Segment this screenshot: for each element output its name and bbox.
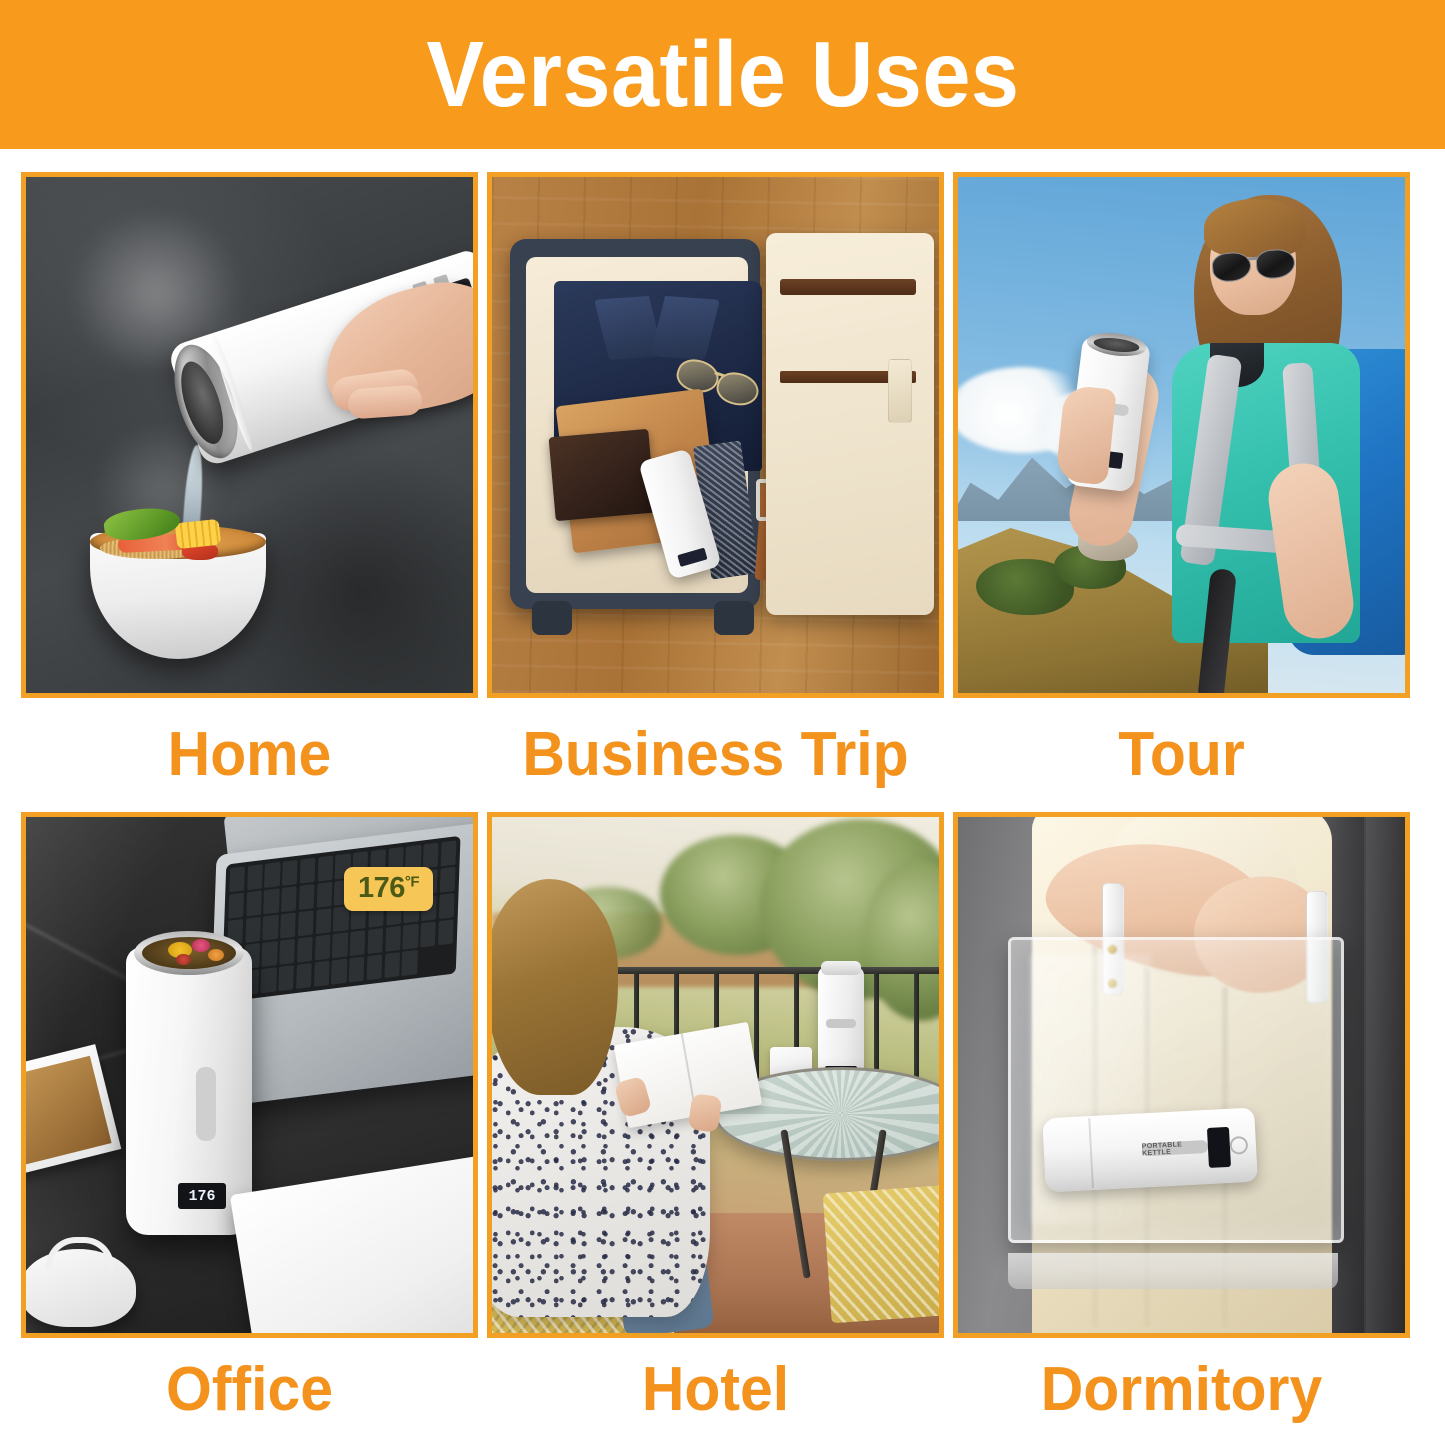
suitcase-main-compartment xyxy=(510,239,760,609)
zipper-pocket xyxy=(780,279,916,295)
kettle-display xyxy=(677,548,707,567)
suitcase xyxy=(504,229,937,629)
kettle-logo: PORTABLE KETTLE xyxy=(1142,1140,1209,1156)
key xyxy=(439,893,455,919)
key xyxy=(440,867,456,893)
finger xyxy=(347,384,423,419)
caption-tour: Tour xyxy=(964,698,1398,812)
key xyxy=(350,930,366,956)
laptop-keyboard xyxy=(221,836,460,1002)
use-case-grid: PORTABLE KETTLE 212 Home xyxy=(21,172,1425,1442)
key xyxy=(314,961,330,987)
kettle-display xyxy=(1207,1127,1231,1168)
portable-kettle-in-bag: PORTABLE KETTLE xyxy=(1042,1108,1258,1193)
scene-dormitory-tote: PORTABLE KETTLE xyxy=(958,817,1405,1333)
key xyxy=(296,963,312,989)
sunglass-lens-left xyxy=(1211,251,1252,283)
open-magazine xyxy=(230,1153,478,1338)
caption-hotel: Hotel xyxy=(498,1338,932,1442)
tote-base-panel xyxy=(1008,1253,1338,1289)
sunglass-lens-right xyxy=(1255,248,1296,280)
key xyxy=(261,968,277,994)
key xyxy=(300,858,316,884)
key xyxy=(297,937,313,963)
key xyxy=(280,913,296,939)
temperature-value: 176 xyxy=(358,872,405,904)
key xyxy=(384,952,400,978)
photo-print xyxy=(21,1044,121,1178)
rose-bud xyxy=(192,939,210,952)
kettle-display: 176 xyxy=(178,1183,226,1209)
key xyxy=(279,939,295,965)
pocket-tab xyxy=(888,359,912,423)
key xyxy=(229,866,245,892)
key xyxy=(228,893,244,919)
caption-business-trip: Business Trip xyxy=(498,698,932,812)
kettle-lid xyxy=(821,961,861,975)
key xyxy=(263,915,279,941)
woman-hair xyxy=(487,879,618,1095)
photo-image xyxy=(21,1056,112,1168)
tile-image-home[interactable]: PORTABLE KETTLE 212 xyxy=(21,172,478,698)
key xyxy=(282,860,298,886)
key xyxy=(278,965,294,991)
use-case-cell-office: 176°F 176 xyxy=(21,812,478,1442)
key xyxy=(299,884,315,910)
key xyxy=(264,862,280,888)
key xyxy=(402,950,418,976)
key xyxy=(333,906,349,932)
key xyxy=(317,855,333,881)
shirt-collar-right xyxy=(650,296,720,360)
corn-cob xyxy=(175,519,221,549)
key xyxy=(438,920,454,946)
caption-dormitory: Dormitory xyxy=(964,1338,1398,1442)
temperature-badge: 176°F xyxy=(344,867,433,911)
sunglasses xyxy=(1211,248,1297,282)
bistro-chair-right xyxy=(823,1185,944,1324)
lid-handle xyxy=(46,1237,114,1269)
kettle-display-value: 176 xyxy=(188,1188,215,1205)
wall-panel xyxy=(1364,817,1410,1333)
caption-home: Home xyxy=(32,698,466,812)
key xyxy=(385,926,401,952)
tile-image-tour[interactable] xyxy=(953,172,1410,698)
suitcase-wheel xyxy=(532,601,572,635)
key xyxy=(367,928,383,954)
berry xyxy=(176,954,191,965)
suitcase-lid-compartment xyxy=(766,233,934,615)
portable-kettle-office: 176 xyxy=(126,947,252,1235)
key xyxy=(262,941,278,967)
key xyxy=(247,864,263,890)
scene-hotel-balcony xyxy=(492,817,939,1333)
key xyxy=(298,910,314,936)
header-banner: Versatile Uses xyxy=(0,0,1445,149)
scene-mountain-hike xyxy=(958,177,1405,693)
kettle-logo xyxy=(826,1019,856,1028)
tile-image-office[interactable]: 176°F 176 xyxy=(21,812,478,1338)
caption-office: Office xyxy=(32,1338,466,1442)
hand-holding-book xyxy=(688,1093,723,1133)
use-case-cell-tour: Tour xyxy=(953,172,1410,812)
key xyxy=(281,886,297,912)
scene-packed-suitcase xyxy=(492,177,939,693)
chair-frame-right xyxy=(941,1177,944,1338)
key xyxy=(420,922,436,948)
key xyxy=(349,957,365,983)
use-case-cell-business-trip: Business Trip xyxy=(487,172,944,812)
scene-office-desk: 176°F 176 xyxy=(26,817,473,1333)
suitcase-wheel xyxy=(714,601,754,635)
page-title: Versatile Uses xyxy=(426,28,1019,121)
key xyxy=(245,917,261,943)
use-case-cell-home: PORTABLE KETTLE 212 Home xyxy=(21,172,478,812)
dried-orange-slice xyxy=(208,949,224,961)
tile-image-hotel[interactable] xyxy=(487,812,944,1338)
tile-image-dormitory[interactable]: PORTABLE KETTLE xyxy=(953,812,1410,1338)
tile-image-business-trip[interactable] xyxy=(487,172,944,698)
key xyxy=(314,935,330,961)
scene-home-kitchen: PORTABLE KETTLE 212 xyxy=(26,177,473,693)
key xyxy=(366,955,382,981)
temperature-unit: °F xyxy=(405,873,419,890)
key xyxy=(246,891,262,917)
key xyxy=(332,933,348,959)
key xyxy=(331,959,347,985)
key xyxy=(264,888,280,914)
key xyxy=(423,843,439,869)
kettle-lid xyxy=(21,1249,136,1327)
key xyxy=(402,924,418,950)
suitcase-lining xyxy=(526,257,748,593)
key xyxy=(315,908,331,934)
leather-wallet xyxy=(549,429,656,521)
kettle-logo xyxy=(196,1067,216,1141)
use-case-cell-hotel: Hotel xyxy=(487,812,944,1442)
flower-tea-surface xyxy=(142,937,236,969)
clear-pvc-tote-bag xyxy=(1008,937,1344,1243)
use-case-cell-dormitory: PORTABLE KETTLE Dormitory xyxy=(953,812,1410,1442)
key xyxy=(440,840,456,866)
key xyxy=(316,882,332,908)
